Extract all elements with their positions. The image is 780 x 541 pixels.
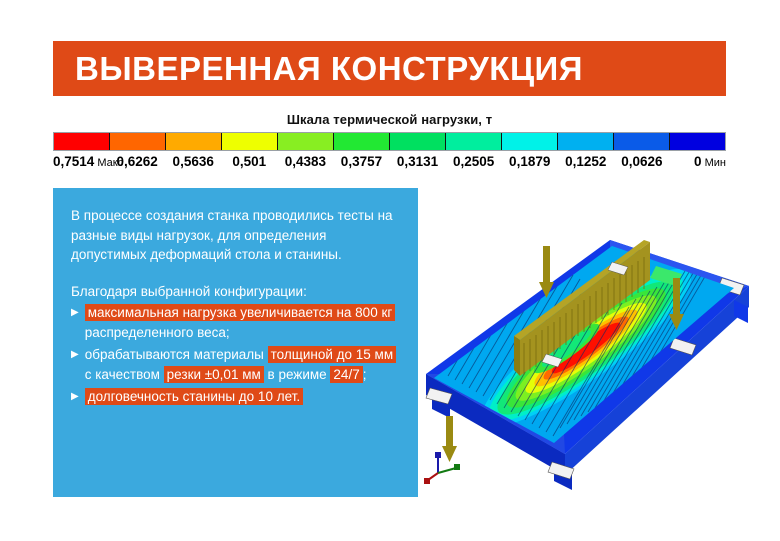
scale-segment-3 <box>222 133 278 150</box>
bullet-marker-icon: ▶ <box>71 303 79 323</box>
scale-segment-4 <box>278 133 334 150</box>
scale-tick-11: 0 Мин <box>694 154 726 169</box>
list-item-text: обрабатываются материалы толщиной до 15 … <box>85 345 400 385</box>
plain-text: в режиме <box>264 367 331 382</box>
lead-in-text: Благодаря выбранной конфигурации: <box>71 282 400 302</box>
scale-tick-value: 0,0626 <box>621 154 662 169</box>
scale-tick-9: 0,1252 <box>565 154 606 169</box>
scale-min-label: Мин <box>702 157 726 169</box>
scale-segment-1 <box>110 133 166 150</box>
scale-color-bar <box>53 132 726 151</box>
scale-tick-6: 0,3131 <box>397 154 438 169</box>
list-item: ▶максимальная нагрузка увеличивается на … <box>71 303 400 343</box>
highlighted-text: максимальная нагрузка увеличивается на 8… <box>85 304 396 321</box>
plain-text: с качеством <box>85 367 164 382</box>
scale-tick-value: 0,7514 <box>53 154 94 169</box>
scale-tick-value: 0,3757 <box>341 154 382 169</box>
scale-segment-6 <box>390 133 446 150</box>
scale-tick-value: 0,4383 <box>285 154 326 169</box>
scale-segment-11 <box>670 133 725 150</box>
scale-segment-9 <box>558 133 614 150</box>
plain-text: обрабатываются материалы <box>85 347 268 362</box>
scale-tick-value: 0,5636 <box>173 154 214 169</box>
list-item-text: максимальная нагрузка увеличивается на 8… <box>85 303 400 343</box>
scale-tick-labels: 0,7514 Макс0,62620,56360,5010,43830,3757… <box>53 154 726 174</box>
scale-tick-value: 0,6262 <box>116 154 157 169</box>
page-title: ВЫВЕРЕННАЯ КОНСТРУКЦИЯ <box>53 52 583 85</box>
scale-segment-7 <box>446 133 502 150</box>
scale-tick-8: 0,1879 <box>509 154 550 169</box>
scale-tick-value: 0,1252 <box>565 154 606 169</box>
scale-tick-3: 0,501 <box>232 154 266 169</box>
plain-text: распределенного веса; <box>85 325 230 340</box>
scale-segment-2 <box>166 133 222 150</box>
highlighted-text: долговечность станины до 10 лет. <box>85 388 303 405</box>
scale-segment-10 <box>614 133 670 150</box>
scale-segment-0 <box>54 133 110 150</box>
scale-tick-1: 0,6262 <box>116 154 157 169</box>
scale-tick-2: 0,5636 <box>173 154 214 169</box>
thermal-load-scale: Шкала термической нагрузки, т 0,7514 Мак… <box>53 112 726 174</box>
scale-tick-7: 0,2505 <box>453 154 494 169</box>
info-panel: В процессе создания станка проводились т… <box>53 188 418 497</box>
scale-segment-5 <box>334 133 390 150</box>
scale-tick-value: 0 <box>694 154 702 169</box>
load-arrow-3 <box>442 416 457 462</box>
scale-tick-5: 0,3757 <box>341 154 382 169</box>
fea-thermal-model-figure <box>404 228 780 500</box>
list-item-text: долговечность станины до 10 лет. <box>85 387 303 407</box>
scale-tick-4: 0,4383 <box>285 154 326 169</box>
scale-segment-8 <box>502 133 558 150</box>
bullet-marker-icon: ▶ <box>71 345 79 365</box>
scale-tick-value: 0,1879 <box>509 154 550 169</box>
scale-tick-value: 0,3131 <box>397 154 438 169</box>
list-item: ▶долговечность станины до 10 лет. <box>71 387 400 407</box>
intro-paragraph: В процессе создания станка проводились т… <box>71 206 400 265</box>
highlighted-text: 24/7 <box>330 366 362 383</box>
scale-tick-10: 0,0626 <box>621 154 662 169</box>
highlighted-text: толщиной до 15 мм <box>268 346 397 363</box>
scale-tick-0: 0,7514 Макс <box>53 154 123 169</box>
slide-title-banner: ВЫВЕРЕННАЯ КОНСТРУКЦИЯ <box>53 41 726 96</box>
highlighted-text: резки ±0,01 мм <box>164 366 264 383</box>
benefits-list: ▶максимальная нагрузка увеличивается на … <box>71 303 400 407</box>
bullet-marker-icon: ▶ <box>71 387 79 407</box>
fea-model-svg <box>404 228 780 500</box>
coordinate-triad-icon <box>424 452 460 484</box>
scale-title: Шкала термической нагрузки, т <box>53 112 726 127</box>
scale-tick-value: 0,501 <box>232 154 266 169</box>
list-item: ▶обрабатываются материалы толщиной до 15… <box>71 345 400 385</box>
scale-tick-value: 0,2505 <box>453 154 494 169</box>
plain-text: ; <box>363 367 367 382</box>
